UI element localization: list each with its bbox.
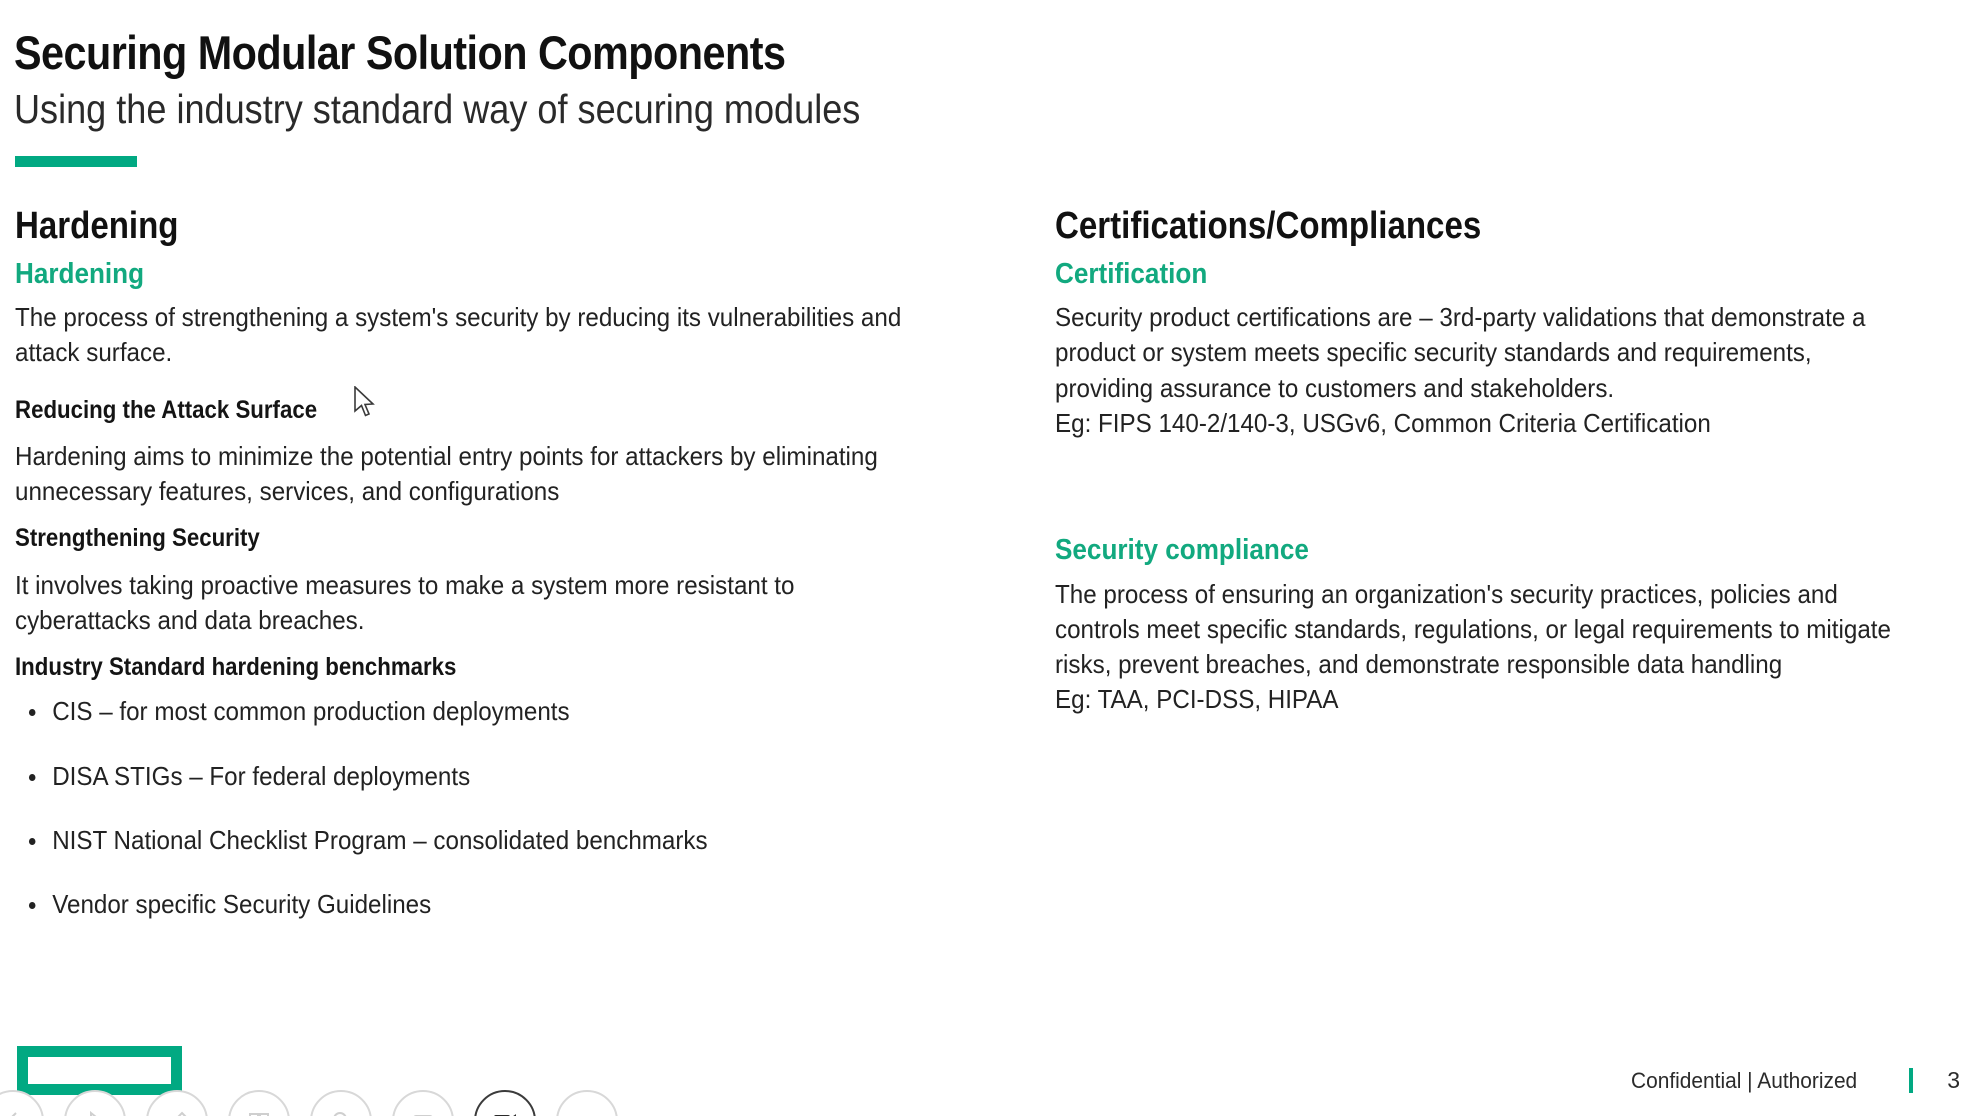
- left-section-3-body: It involves taking proactive measures to…: [15, 568, 931, 638]
- left-section-4-heading: Industry Standard hardening benchmarks: [15, 652, 892, 683]
- list-item: NIST National Checklist Program – consol…: [15, 825, 931, 856]
- subtitles-icon[interactable]: [392, 1090, 454, 1116]
- footer: Confidential | Authorized 3: [1631, 1067, 1960, 1094]
- left-section-2-body: Hardening aims to minimize the potential…: [15, 439, 931, 509]
- right-section-1-example: Eg: FIPS 140-2/140-3, USGv6, Common Crit…: [1055, 406, 1906, 441]
- right-section-2-example: Eg: TAA, PCI-DSS, HIPAA: [1055, 682, 1906, 717]
- left-section-1-body: The process of strengthening a system's …: [15, 300, 931, 370]
- page-subtitle: Using the industry standard way of secur…: [14, 87, 860, 132]
- accent-bar: [15, 156, 137, 167]
- more-options-icon[interactable]: [556, 1090, 618, 1116]
- spacer: [15, 425, 1000, 439]
- slide-canvas: Securing Modular Solution Components Usi…: [0, 0, 1980, 1116]
- pen-icon[interactable]: [146, 1090, 208, 1116]
- left-section-2-heading: Reducing the Attack Surface: [15, 395, 892, 426]
- spacer: [15, 371, 1000, 395]
- presenter-toolbar[interactable]: [0, 1090, 618, 1116]
- right-column: Certifications/Compliances Certification…: [1055, 205, 1970, 717]
- laser-pointer-icon[interactable]: [64, 1090, 126, 1116]
- zoom-icon[interactable]: [310, 1090, 372, 1116]
- right-section-2-body: The process of ensuring an organization'…: [1055, 577, 1906, 682]
- page-number: 3: [1947, 1067, 1960, 1094]
- left-section-1-green-heading: Hardening: [15, 257, 902, 292]
- left-column: Hardening Hardening The process of stren…: [15, 205, 1000, 953]
- camera-icon[interactable]: [474, 1090, 536, 1116]
- right-column-heading: Certifications/Compliances: [1055, 205, 1851, 248]
- left-section-3-heading: Strengthening Security: [15, 523, 892, 554]
- list-item: Vendor specific Security Guidelines: [15, 889, 931, 920]
- list-item: DISA STIGs – For federal deployments: [15, 761, 931, 792]
- previous-slide-icon[interactable]: [0, 1090, 44, 1116]
- hpe-logo: [17, 1046, 182, 1095]
- all-slides-icon[interactable]: [228, 1090, 290, 1116]
- confidentiality-label: Confidential | Authorized: [1631, 1068, 1857, 1094]
- benchmark-list: CIS – for most common production deploym…: [15, 696, 1000, 920]
- page-title: Securing Modular Solution Components: [14, 28, 785, 77]
- spacer: [15, 638, 1000, 652]
- right-section-2-green-heading: Security compliance: [1055, 533, 1879, 568]
- right-section-1-green-heading: Certification: [1055, 257, 1879, 292]
- list-item: CIS – for most common production deploym…: [15, 696, 931, 727]
- spacer: [1055, 441, 1970, 533]
- left-column-heading: Hardening: [15, 205, 872, 248]
- spacer: [15, 509, 1000, 523]
- right-section-1-body: Security product certifications are – 3r…: [1055, 300, 1906, 405]
- spacer: [15, 554, 1000, 568]
- footer-divider: [1909, 1068, 1913, 1093]
